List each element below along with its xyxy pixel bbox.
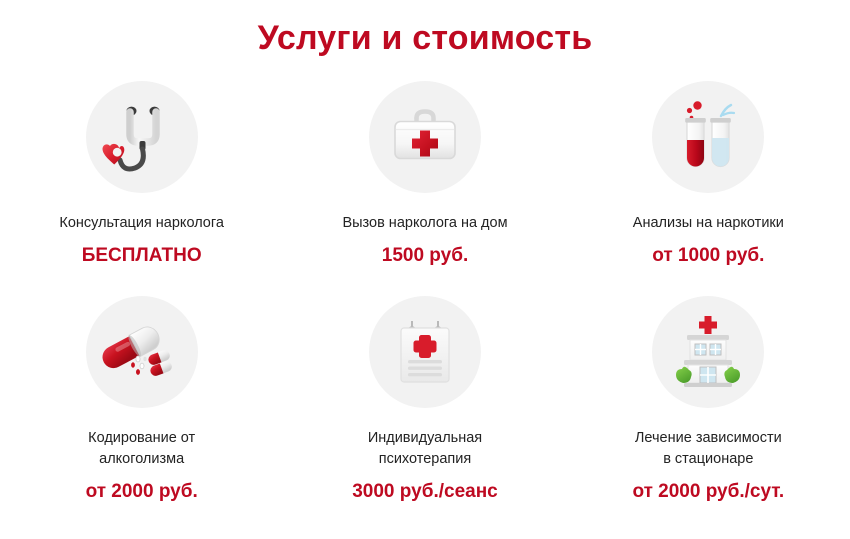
- services-pricing-page: Услуги и стоимость: [0, 0, 850, 539]
- test-tubes-icon: [652, 81, 764, 193]
- service-label: Индивидуальная психотерапия: [368, 428, 482, 470]
- service-price: 3000 руб./сеанс: [352, 480, 498, 504]
- service-card-drug-tests[interactable]: Анализы на наркотики от 1000 руб.: [567, 69, 850, 268]
- service-price: БЕСПЛАТНО: [82, 244, 202, 268]
- service-card-alcohol-coding[interactable]: Кодирование от алкоголизма от 2000 руб.: [0, 278, 283, 504]
- medical-chart-icon: [369, 296, 481, 408]
- service-label: Лечение зависимости в стационаре: [635, 428, 782, 470]
- service-label: Анализы на наркотики: [633, 213, 784, 234]
- service-card-psychotherapy[interactable]: Индивидуальная психотерапия 3000 руб./се…: [283, 278, 566, 504]
- capsule-pills-icon: [86, 296, 198, 408]
- service-price: от 2000 руб./сут.: [632, 480, 784, 504]
- service-label: Кодирование от алкоголизма: [88, 428, 195, 470]
- service-label: Вызов нарколога на дом: [342, 213, 507, 234]
- service-label: Консультация нарколога: [59, 213, 224, 234]
- stethoscope-heart-icon: [86, 81, 198, 193]
- service-card-home-visit[interactable]: Вызов нарколога на дом 1500 руб.: [283, 69, 566, 268]
- hospital-building-icon: [652, 296, 764, 408]
- service-price: 1500 руб.: [382, 244, 468, 268]
- services-grid-row-2: Кодирование от алкоголизма от 2000 руб.: [0, 278, 850, 504]
- service-price: от 1000 руб.: [652, 244, 764, 268]
- first-aid-kit-icon: [369, 81, 481, 193]
- services-grid-row-1: Консультация нарколога БЕСПЛАТНО: [0, 69, 850, 268]
- page-title: Услуги и стоимость: [0, 0, 850, 59]
- service-card-consultation[interactable]: Консультация нарколога БЕСПЛАТНО: [0, 69, 283, 268]
- service-price: от 2000 руб.: [86, 480, 198, 504]
- service-card-inpatient[interactable]: Лечение зависимости в стационаре от 2000…: [567, 278, 850, 504]
